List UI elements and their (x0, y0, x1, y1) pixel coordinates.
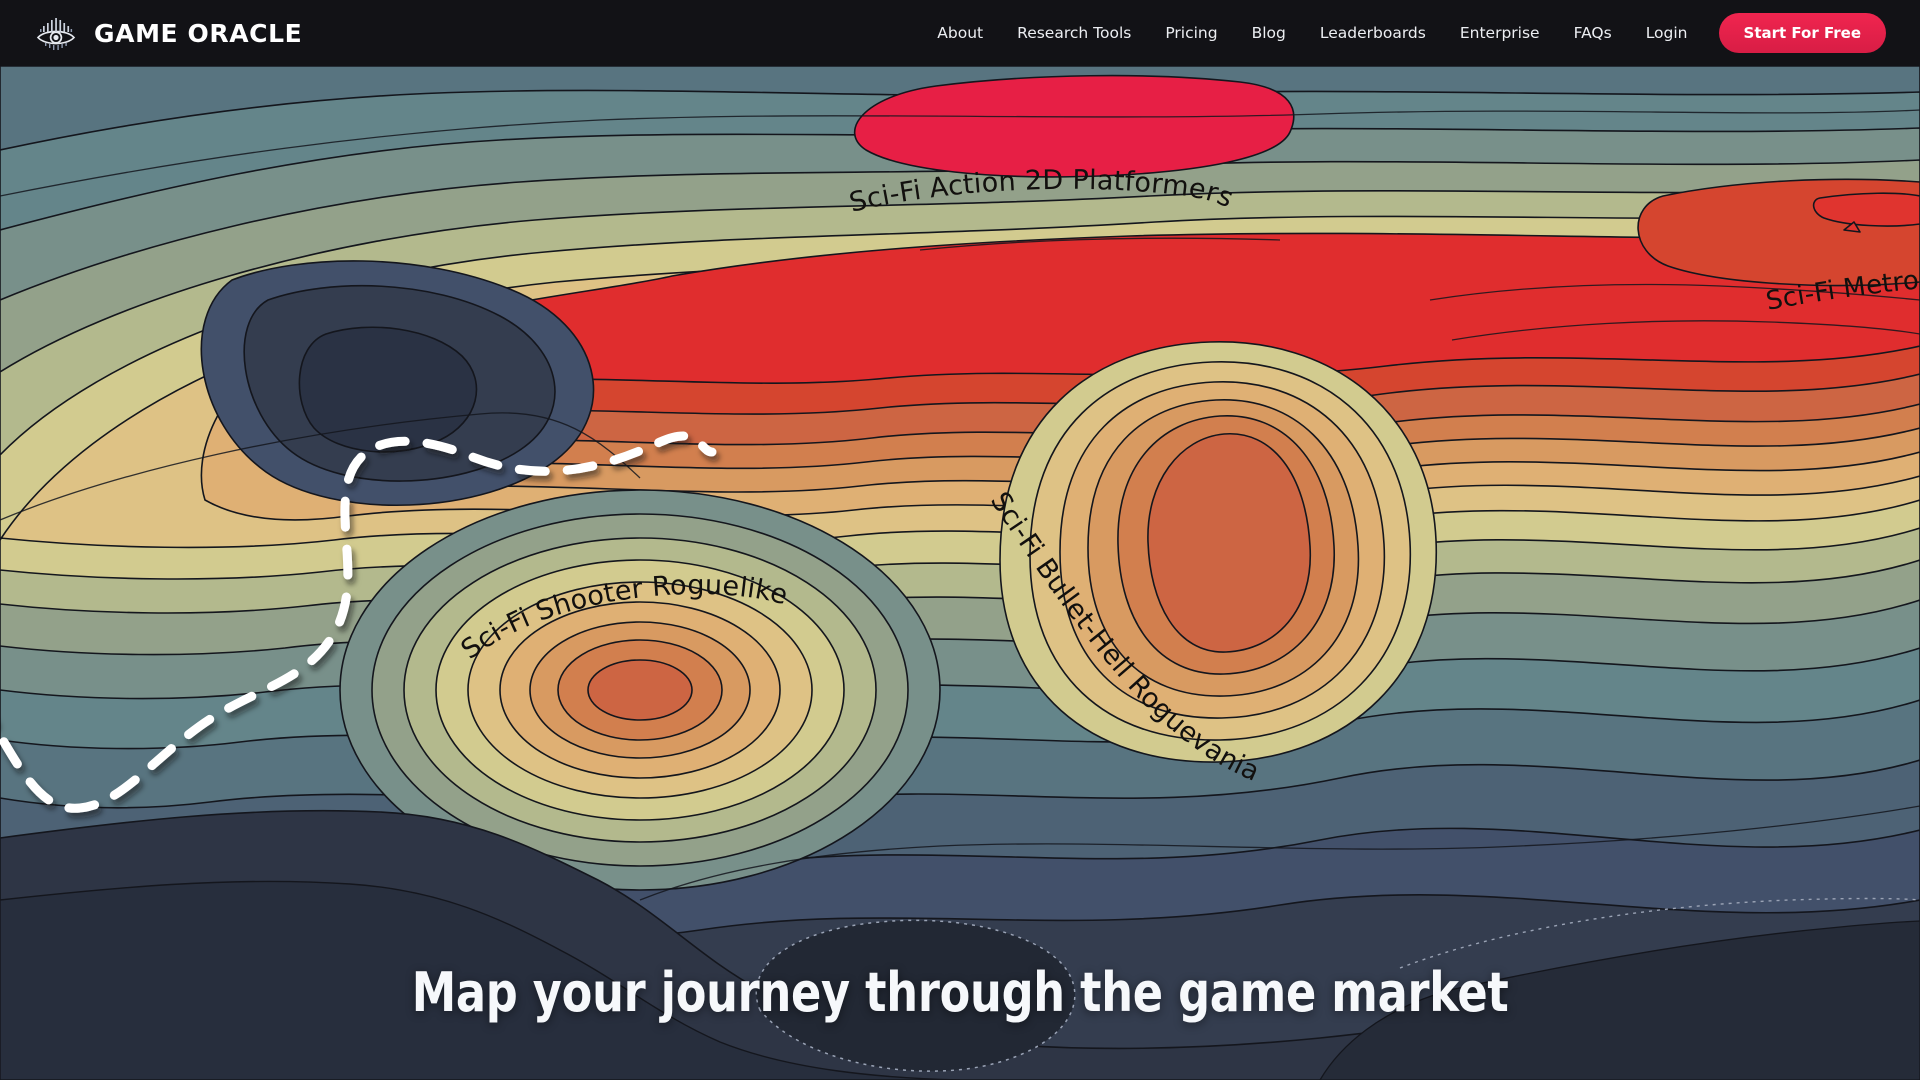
nav-item-faqs[interactable]: FAQs (1557, 16, 1629, 50)
nav-item-research-tools[interactable]: Research Tools (1000, 16, 1148, 50)
nav-item-blog[interactable]: Blog (1235, 16, 1303, 50)
nav-item-pricing[interactable]: Pricing (1148, 16, 1234, 50)
contour-map: Sci-Fi Action 2D Platformers Sci-Fi Shoo… (0, 0, 1920, 1080)
nav-item-enterprise[interactable]: Enterprise (1443, 16, 1557, 50)
brand-name: GAME ORACLE (94, 19, 302, 48)
contour-map-svg: Sci-Fi Action 2D Platformers Sci-Fi Shoo… (0, 0, 1920, 1080)
site-header: GAME ORACLE About Research Tools Pricing… (0, 0, 1920, 66)
page-root: Sci-Fi Action 2D Platformers Sci-Fi Shoo… (0, 0, 1920, 1080)
brand-logo[interactable]: GAME ORACLE (34, 13, 302, 53)
main-nav: About Research Tools Pricing Blog Leader… (920, 13, 1886, 53)
eye-oracle-icon (34, 13, 78, 53)
peak-scifi-bullet-hell-roguevania (1000, 342, 1436, 762)
start-for-free-button[interactable]: Start For Free (1719, 13, 1886, 53)
nav-item-leaderboards[interactable]: Leaderboards (1303, 16, 1443, 50)
nav-item-login[interactable]: Login (1629, 16, 1705, 50)
nav-item-about[interactable]: About (920, 16, 1000, 50)
